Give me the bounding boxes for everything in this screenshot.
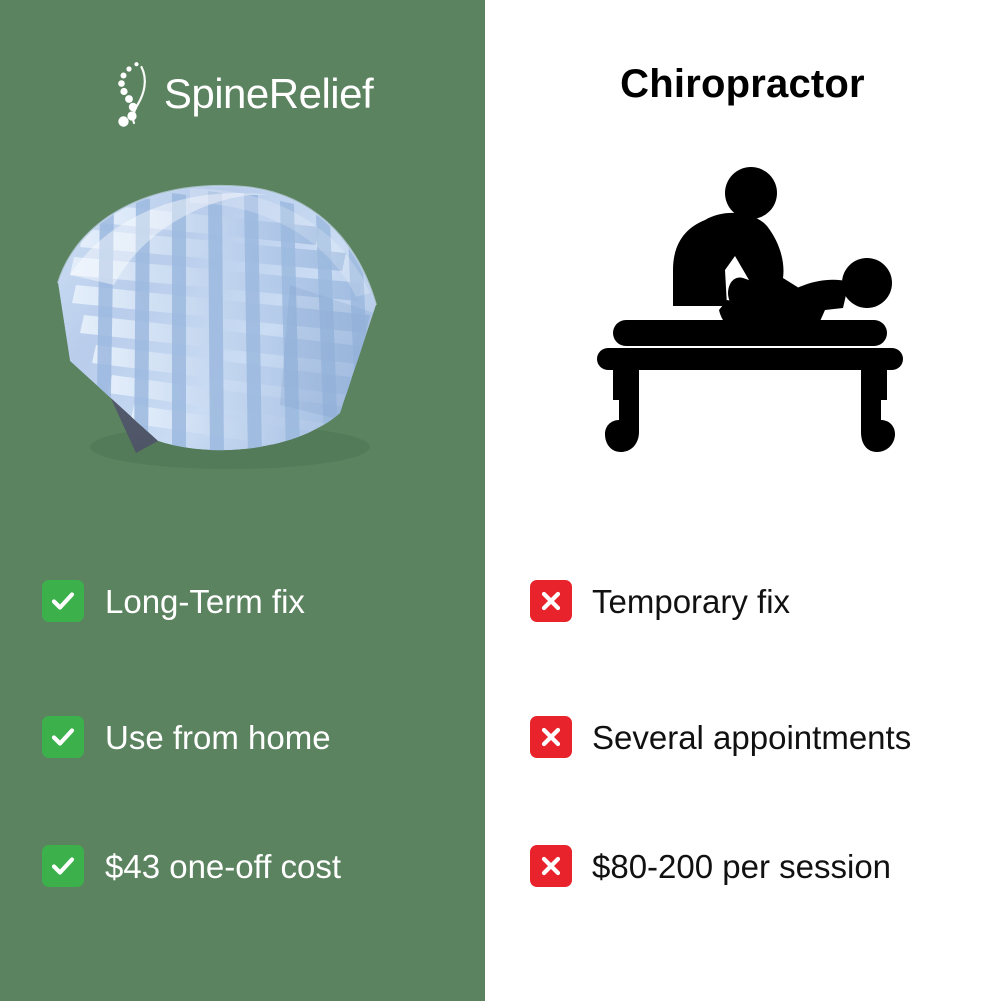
chiropractor-treating-patient-icon <box>585 160 915 470</box>
chiropractor-title: Chiropractor <box>485 64 1000 104</box>
cross-icon <box>530 580 572 622</box>
check-icon <box>42 716 84 758</box>
back-stretcher-product-image <box>40 165 400 475</box>
feature-row: Several appointments <box>530 713 990 761</box>
right-column-header: Chiropractor <box>485 64 1000 104</box>
feature-row: $80-200 per session <box>530 842 990 890</box>
feature-row: Temporary fix <box>530 577 990 625</box>
feature-label: $80-200 per session <box>592 850 891 883</box>
feature-row: $43 one-off cost <box>42 842 472 890</box>
feature-row: Use from home <box>42 713 472 761</box>
comparison-infographic: SpineRelief Chiropractor <box>0 0 1000 1001</box>
feature-label: $43 one-off cost <box>105 850 341 883</box>
brand-name: SpineRelief <box>164 73 373 115</box>
cross-icon <box>530 716 572 758</box>
spine-dots-icon <box>112 60 154 128</box>
brand-header: SpineRelief <box>0 58 485 130</box>
feature-label: Long-Term fix <box>105 585 305 618</box>
feature-row: Long-Term fix <box>42 577 472 625</box>
cross-icon <box>530 845 572 887</box>
check-icon <box>42 580 84 622</box>
feature-label: Use from home <box>105 721 331 754</box>
feature-label: Several appointments <box>592 721 911 754</box>
check-icon <box>42 845 84 887</box>
feature-label: Temporary fix <box>592 585 790 618</box>
